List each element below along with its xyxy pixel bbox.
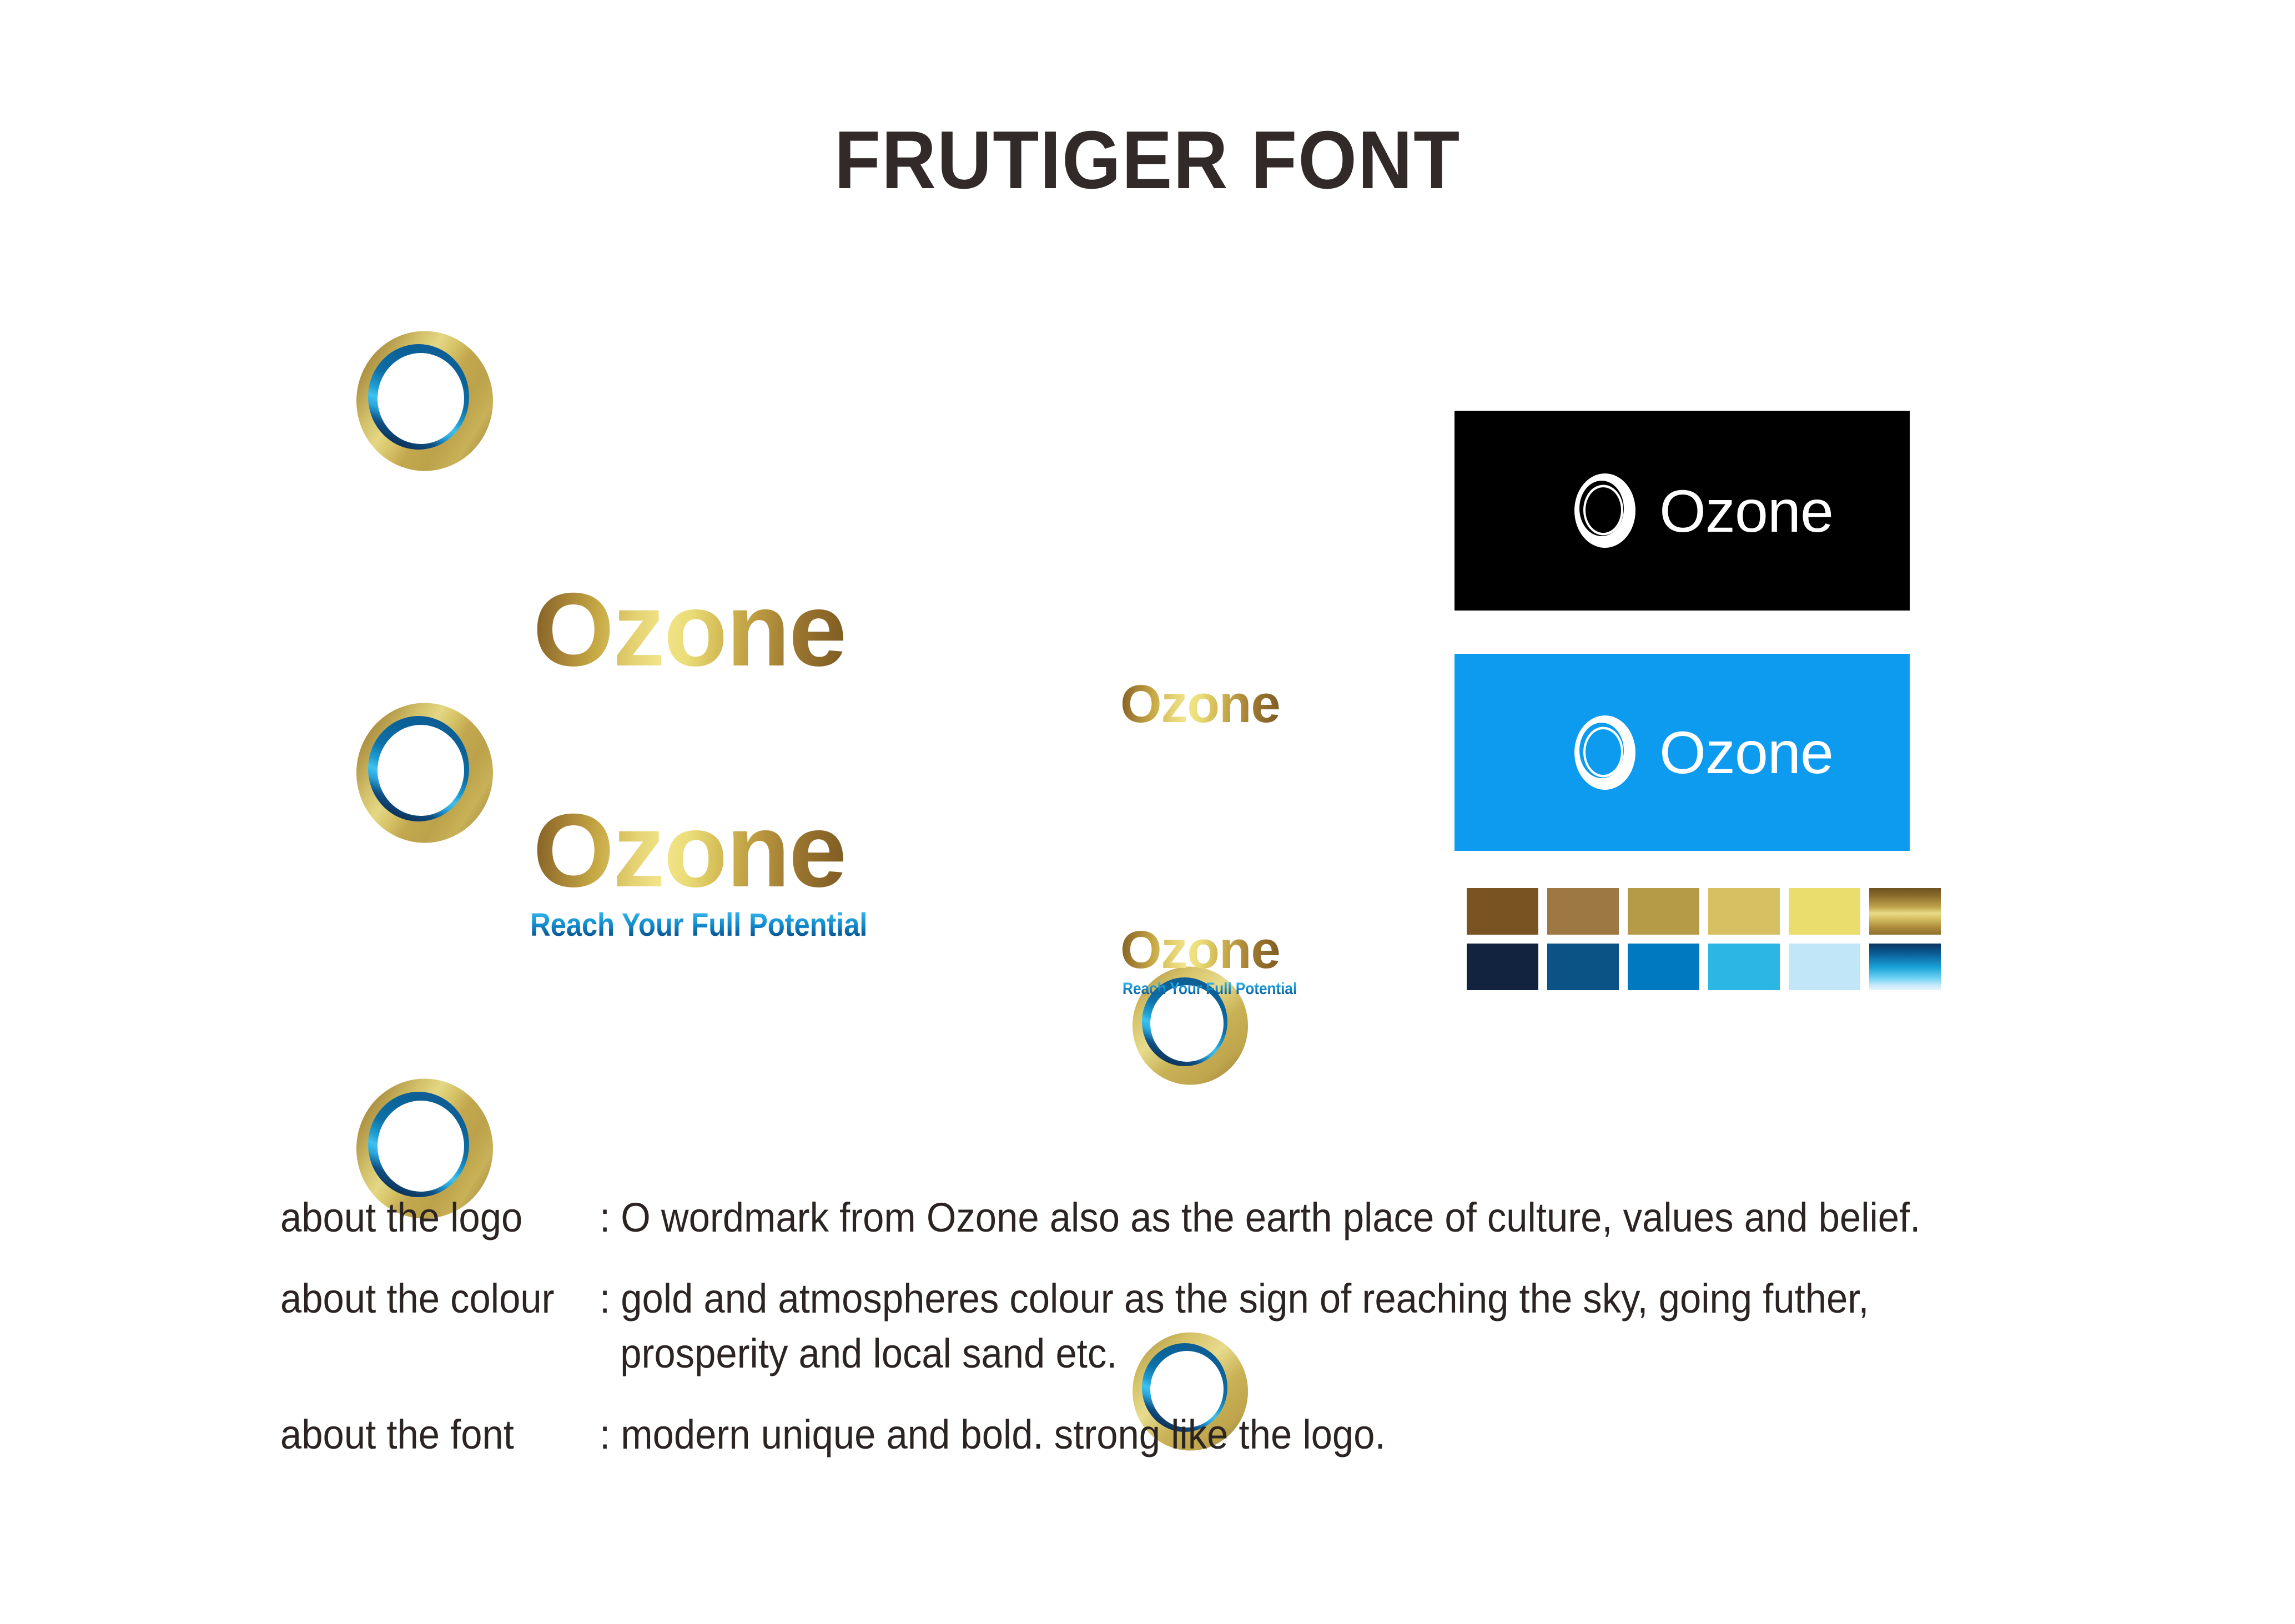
black-card: Ozone [1454, 411, 1910, 611]
logo-stacked-tagline-text: Reach Your Full Potential [1123, 981, 1297, 997]
logo-mark-only [355, 330, 494, 472]
brand-notes: about the logo : O wordmark from Ozone a… [280, 1196, 2112, 1494]
swatch-blue-gradient [1869, 944, 1941, 990]
logo-horizontal-wordmark: Ozone [533, 578, 845, 680]
blue-card-ring-icon [1574, 715, 1636, 790]
note-body-font: : modern unique and bold. strong like th… [600, 1413, 2112, 1456]
note-line: : modern unique and bold. strong like th… [600, 1413, 2006, 1456]
logo-stacked-tagline-wordmark: Ozone [1120, 924, 1280, 976]
black-card-label: Ozone [1659, 476, 1833, 546]
black-card-ring-icon [1574, 473, 1636, 548]
note-row-font: about the font : modern unique and bold.… [280, 1413, 2112, 1456]
swatch-gold-gradient [1869, 888, 1941, 935]
ozone-ring-icon [355, 702, 494, 844]
blue-card: Ozone [1454, 654, 1910, 851]
note-label-logo: about the logo [280, 1196, 577, 1239]
note-row-logo: about the logo : O wordmark from Ozone a… [280, 1196, 2112, 1239]
logo-horizontal-tagline-wordmark: Ozone [533, 799, 845, 901]
logo-horizontal-tagline-text: Reach Your Full Potential [530, 909, 867, 941]
swatch-blue-3 [1628, 944, 1699, 990]
note-label-font: about the font [280, 1413, 577, 1456]
logo-horizontal-mark [355, 702, 494, 844]
swatch-blue-4 [1708, 944, 1780, 990]
ozone-ring-icon [355, 330, 494, 472]
swatch-blue-1 [1467, 944, 1538, 990]
swatch-blue-2 [1547, 944, 1619, 990]
ozone-ring-mono-icon [1574, 715, 1636, 790]
colour-palette [1467, 888, 1941, 990]
swatch-blue-5 [1789, 944, 1860, 990]
note-line: : gold and atmospheres colour as the sig… [600, 1277, 2006, 1320]
ozone-ring-mono-icon [1574, 473, 1636, 548]
logo-stacked-wordmark: Ozone [1120, 678, 1280, 730]
note-body-logo: : O wordmark from Ozone also as the eart… [600, 1196, 2112, 1239]
note-row-colour: about the colour : gold and atmospheres … [280, 1277, 2112, 1375]
swatch-gold-1 [1467, 888, 1538, 935]
note-label-colour: about the colour [280, 1277, 577, 1320]
page-title: FRUTIGER FONT [92, 119, 2203, 201]
note-body-colour: : gold and atmospheres colour as the sig… [600, 1277, 2112, 1375]
swatch-gold-4 [1708, 888, 1780, 935]
swatch-gold-2 [1547, 888, 1619, 935]
swatch-gold-5 [1789, 888, 1860, 935]
swatch-gold-3 [1628, 888, 1699, 935]
note-line: : O wordmark from Ozone also as the eart… [600, 1196, 2006, 1239]
note-line: prosperity and local sand etc. [600, 1332, 2006, 1375]
blue-card-label: Ozone [1659, 718, 1833, 787]
